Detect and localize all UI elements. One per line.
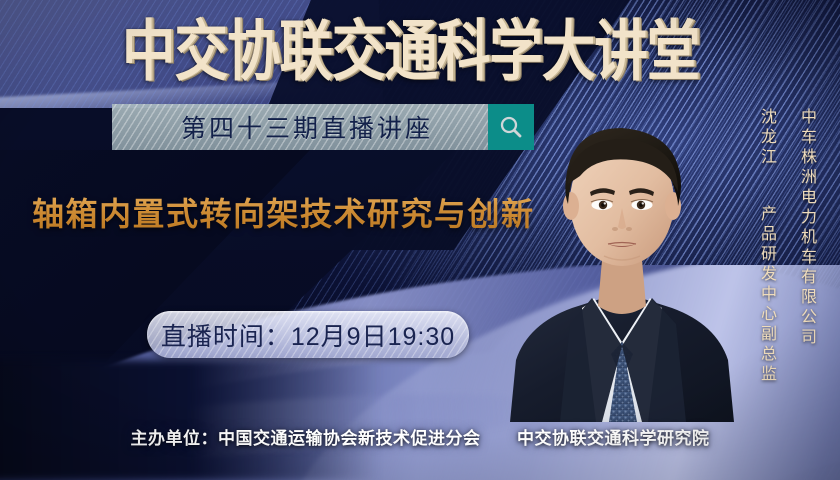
speaker-portrait (498, 92, 746, 422)
silk-shadow-left (0, 360, 380, 480)
footer-organizer: 主办单位：中国交通运输协会新技术促进分会 (131, 429, 481, 448)
speaker-role: 产品研发中心副总监 (754, 205, 778, 385)
subtitle-label: 第四十三期直播讲座 (112, 104, 488, 150)
broadcast-time-label: 直播时间：12月9日19:30 (161, 317, 455, 353)
speaker-name: 沈龙江 (754, 108, 778, 168)
webinar-poster: 中交协联交通科学大讲堂 第四十三期直播讲座 轴箱内置式转向架技术研究与创新 直播… (0, 0, 840, 480)
footer-institute: 中交协联交通科学研究院 (517, 429, 710, 448)
speaker-company: 中车株洲电力机车有限公司 (794, 108, 818, 348)
search-icon-box[interactable] (488, 104, 534, 150)
search-icon (498, 114, 524, 140)
subtitle-bar: 第四十三期直播讲座 (112, 104, 534, 150)
page-title: 中交协联交通科学大讲堂 (122, 14, 699, 90)
lecture-title: 轴箱内置式转向架技术研究与创新 (32, 192, 535, 236)
footer: 主办单位：中国交通运输协会新技术促进分会 中交协联交通科学研究院 (0, 424, 840, 449)
broadcast-time-pill: 直播时间：12月9日19:30 (147, 311, 469, 358)
